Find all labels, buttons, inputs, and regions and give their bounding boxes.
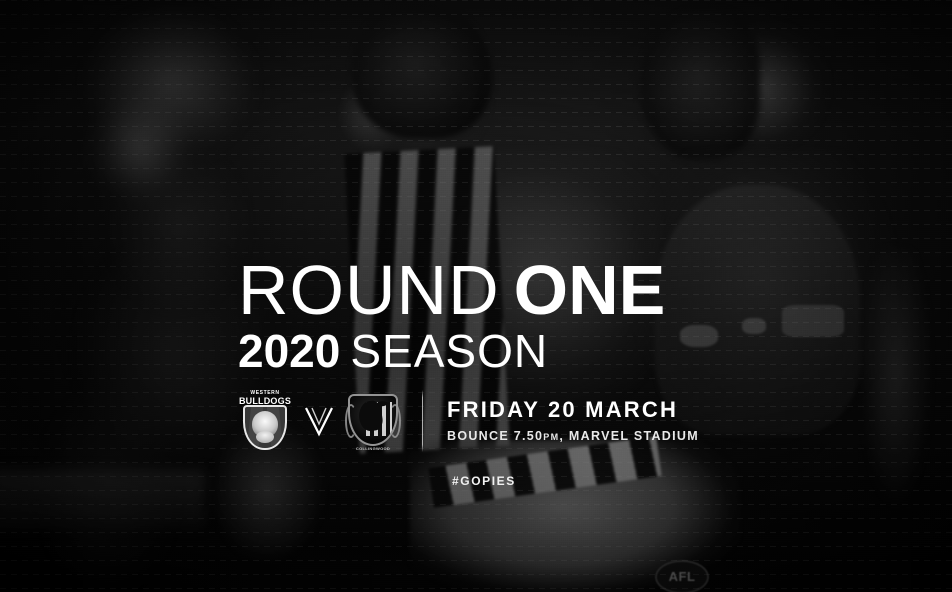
- headline-year: 2020: [238, 325, 340, 377]
- headline-round-number: ONE: [514, 251, 666, 329]
- magpie-bird-icon: [357, 400, 384, 433]
- match-venue-prefix: BOUNCE 7.50: [447, 429, 543, 443]
- western-bulldogs-crest[interactable]: WESTERN BULLDOGS: [236, 390, 294, 452]
- headline-secondary-line: 2020SEASON: [238, 328, 665, 374]
- match-venue-suffix: , MARVEL STADIUM: [559, 429, 699, 443]
- match-venue-pm: PM: [543, 432, 559, 442]
- match-date: FRIDAY 20 MARCH: [447, 397, 699, 423]
- bulldogs-shield-icon: [243, 405, 287, 450]
- vertical-divider: [422, 390, 423, 452]
- match-venue: BOUNCE 7.50PM, MARVEL STADIUM: [447, 429, 699, 445]
- headline-primary-line: ROUNDONE: [238, 258, 665, 322]
- match-details-strip: WESTERN BULLDOGS: [236, 390, 699, 452]
- afl-round-one-promo-poster: AFL ROUNDONE 2020SEASON WESTERN BULLDOGS: [0, 0, 952, 592]
- headline-round-word: ROUND: [238, 251, 500, 329]
- headline-season-word: SEASON: [350, 325, 548, 377]
- poster-content: ROUNDONE 2020SEASON WESTERN BULLDOGS: [0, 0, 952, 592]
- hashtag: #GOPIES: [452, 474, 516, 488]
- collingwood-magpies-crest[interactable]: COLLINGWOOD: [344, 390, 402, 452]
- collingwood-crest-banner-text: COLLINGWOOD: [356, 446, 390, 451]
- bulldog-head-icon: [252, 411, 278, 437]
- laurel-wreath-left-icon: [345, 404, 357, 438]
- headline-block: ROUNDONE 2020SEASON: [238, 258, 665, 374]
- bulldogs-crest-wordmark: WESTERN BULLDOGS: [236, 390, 294, 406]
- laurel-wreath-right-icon: [389, 404, 401, 438]
- match-text-block: FRIDAY 20 MARCH BOUNCE 7.50PM, MARVEL ST…: [447, 397, 699, 445]
- versus-mark: [294, 390, 344, 452]
- versus-v-icon: [302, 404, 336, 438]
